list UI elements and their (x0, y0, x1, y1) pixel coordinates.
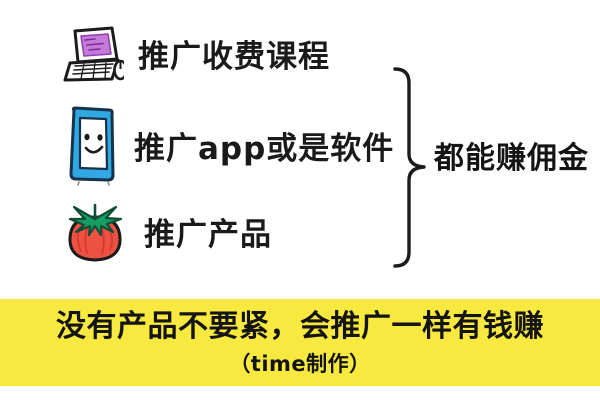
banner-credit: （time制作） (229, 354, 370, 375)
list-item: 推广收费课程 (62, 26, 330, 88)
tomato-icon (62, 199, 128, 272)
list-item-label: 推广app或是软件 (134, 134, 394, 165)
infographic-canvas: 推广收费课程 推广app或是软件 (0, 0, 600, 400)
list-item: 推广app或是软件 (62, 106, 394, 192)
list-item: 推广产品 (62, 200, 272, 270)
list-item-label: 推广产品 (144, 220, 272, 251)
summary-label: 都能赚佣金 (434, 144, 589, 174)
laptop-icon (62, 25, 124, 90)
banner-headline: 没有产品不要紧，会推广一样有钱赚 (56, 312, 544, 342)
banner: 没有产品不要紧，会推广一样有钱赚 （time制作） (0, 299, 600, 386)
list-item-label: 推广收费课程 (138, 42, 330, 73)
smartphone-smiley-icon (62, 105, 122, 194)
summary-group: 都能赚佣金 (392, 66, 600, 270)
